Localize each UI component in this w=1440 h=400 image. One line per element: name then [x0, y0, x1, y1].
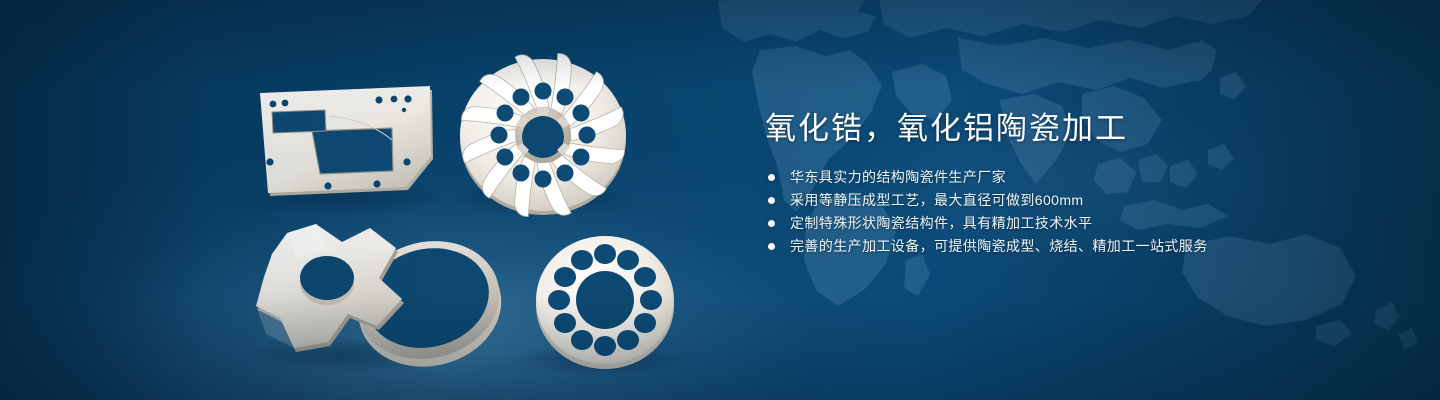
list-item-label: 完善的生产加工设备，可提供陶瓷成型、烧结、精加工一站式服务 — [790, 238, 1208, 254]
bullet-dot-icon — [768, 220, 775, 227]
banner-feature-list: 华东具实力的结构陶瓷件生产厂家 采用等静压成型工艺，最大直径可做到600mm 定… — [768, 169, 1365, 255]
banner-copy: 氧化锆，氧化铝陶瓷加工 华东具实力的结构陶瓷件生产厂家 采用等静压成型工艺，最大… — [765, 108, 1365, 255]
list-item: 完善的生产加工设备，可提供陶瓷成型、烧结、精加工一站式服务 — [768, 238, 1365, 255]
list-item-label: 定制特殊形状陶瓷结构件，具有精加工技术水平 — [790, 215, 1092, 231]
list-item-label: 采用等静压成型工艺，最大直径可做到600mm — [790, 192, 1083, 208]
bullet-dot-icon — [768, 174, 775, 181]
list-item: 定制特殊形状陶瓷结构件，具有精加工技术水平 — [768, 215, 1365, 232]
bullet-dot-icon — [768, 197, 775, 204]
hero-banner: 氧化锆，氧化铝陶瓷加工 华东具实力的结构陶瓷件生产厂家 采用等静压成型工艺，最大… — [0, 0, 1440, 400]
bullet-dot-icon — [768, 243, 775, 250]
list-item-label: 华东具实力的结构陶瓷件生产厂家 — [790, 169, 1006, 185]
banner-headline: 氧化锆，氧化铝陶瓷加工 — [765, 108, 1365, 150]
list-item: 采用等静压成型工艺，最大直径可做到600mm — [768, 192, 1365, 209]
list-item: 华东具实力的结构陶瓷件生产厂家 — [768, 169, 1365, 186]
